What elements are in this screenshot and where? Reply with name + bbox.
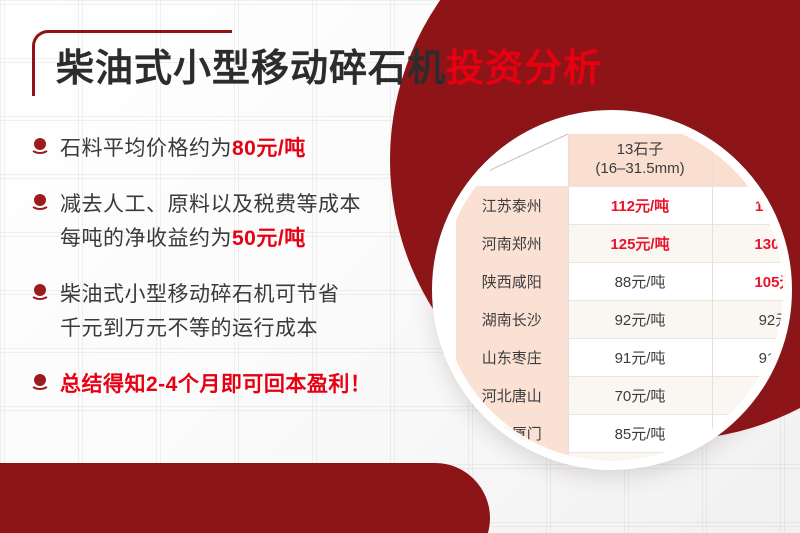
col-header-1-spec: (10–… (761, 150, 786, 167)
price-table-value-cell: 112元/吨 (568, 186, 712, 224)
bullet-arc (30, 286, 50, 300)
bullet-saving: 柴油式小型移动碎石机可节省千元到万元不等的运行成本 (30, 278, 450, 346)
price-table-value-cell: 91元/吨 (568, 338, 712, 376)
price-table-row: —— (456, 452, 786, 464)
price-table-city-cell: 河北唐山 (456, 376, 568, 414)
price-table-city-cell (456, 452, 568, 464)
bullet-conclusion-line-0-plain: 总结得知2-4个月即可回本盈利！ (60, 373, 371, 396)
price-table-value-cell: 91元/吨 (712, 338, 786, 376)
price-table-city-cell: 福建厦门 (456, 414, 568, 452)
bullet-net-profit-text: 减去人工、原料以及税费等成本每吨的净收益约为50元/吨 (60, 188, 361, 256)
poster-root: 柴油式小型移动碎石机投资分析 石料平均价格约为80元/吨减去人工、原料以及税费等… (0, 0, 800, 533)
bullet-list: 石料平均价格约为80元/吨减去人工、原料以及税费等成本每吨的净收益约为50元/吨… (30, 132, 450, 424)
price-table-city-cell: 湖南长沙 (456, 300, 568, 338)
price-table-value-cell: —— (568, 452, 712, 464)
bullet-arc (30, 376, 50, 390)
price-table-value-cell: 92元/吨 (568, 300, 712, 338)
bullet-dot-icon (30, 372, 52, 396)
price-table-value-cell: 125元/吨 (568, 224, 712, 262)
bullet-saving-line-1-plain: 千元到万元不等的运行成本 (60, 317, 318, 340)
price-table-value-cell: 92元/吨 (712, 300, 786, 338)
price-table-city-cell: 江苏泰州 (456, 186, 568, 224)
bullet-dot-icon (30, 136, 52, 160)
bullet-net-profit-line-1-plain: 每吨的净收益约为 (60, 227, 232, 250)
bullet-arc (30, 196, 50, 210)
page-title-accent: 投资分析 (446, 48, 602, 90)
price-table-city-cell: 河南郑州 (456, 224, 568, 262)
col-header-0-name: 13石子 (617, 141, 664, 158)
price-table-value-cell: 85元/吨 (712, 414, 786, 452)
price-table-header-row: 13石子 (16–31.5mm) (10–… (456, 134, 786, 186)
bullet-net-profit-line-0: 减去人工、原料以及税费等成本 (60, 188, 361, 222)
bullet-net-profit-line-1: 每吨的净收益约为50元/吨 (60, 222, 361, 256)
bullet-net-profit: 减去人工、原料以及税费等成本每吨的净收益约为50元/吨 (30, 188, 450, 256)
bullet-net-profit-line-0-plain: 减去人工、原料以及税费等成本 (60, 193, 361, 216)
page-title-block: 柴油式小型移动碎石机投资分析 (32, 30, 602, 92)
price-table-row: 江苏泰州112元/吨113元/吨 (456, 186, 786, 224)
bullet-conclusion-line-0: 总结得知2-4个月即可回本盈利！ (60, 368, 371, 402)
bullet-conclusion: 总结得知2-4个月即可回本盈利！ (30, 368, 450, 402)
bullet-saving-line-1: 千元到万元不等的运行成本 (60, 312, 340, 346)
price-table-value-cell: 85元/吨 (568, 414, 712, 452)
bullet-dot-icon (30, 192, 52, 216)
bullet-price-line-0-highlight: 80元/吨 (232, 137, 306, 160)
bullet-price-line-0: 石料平均价格约为80元/吨 (60, 132, 306, 166)
price-table-row: 陕西咸阳88元/吨105元/吨 (456, 262, 786, 300)
bullet-arc (30, 140, 50, 154)
col-header-0-spec: (16–31.5mm) (595, 160, 684, 177)
price-table-city-cell: 山东枣庄 (456, 338, 568, 376)
price-table-callout: 13石子 (16–31.5mm) (10–… 江苏泰州112元/吨113元/吨河… (432, 110, 792, 470)
bullet-price-line-0-plain: 石料平均价格约为 (60, 137, 232, 160)
price-table-value-cell: 70元/吨 (712, 376, 786, 414)
price-table-body: 江苏泰州112元/吨113元/吨河南郑州125元/吨130元/吨陕西咸阳88元/… (456, 186, 786, 464)
page-title-main: 柴油式小型移动碎石机 (56, 48, 446, 90)
price-table-col-header-1: (10–… (712, 134, 786, 186)
price-table-value-cell: 113元/吨 (712, 186, 786, 224)
price-table-row: 湖南长沙92元/吨92元/吨 (456, 300, 786, 338)
price-table-row: 河南郑州125元/吨130元/吨 (456, 224, 786, 262)
bullet-conclusion-text: 总结得知2-4个月即可回本盈利！ (60, 368, 371, 402)
bullet-saving-line-0: 柴油式小型移动碎石机可节省 (60, 278, 340, 312)
bullet-price-text: 石料平均价格约为80元/吨 (60, 132, 306, 166)
price-table-value-cell (712, 452, 786, 464)
bullet-saving-text: 柴油式小型移动碎石机可节省千元到万元不等的运行成本 (60, 278, 340, 346)
price-table-row: 河北唐山70元/吨70元/吨 (456, 376, 786, 414)
bullet-net-profit-line-1-highlight: 50元/吨 (232, 227, 306, 250)
price-table-col-header-0: 13石子 (16–31.5mm) (568, 134, 712, 186)
price-table-row: 福建厦门85元/吨85元/吨 (456, 414, 786, 452)
bullet-price: 石料平均价格约为80元/吨 (30, 132, 450, 166)
price-table-value-cell: 70元/吨 (568, 376, 712, 414)
price-table-row: 山东枣庄91元/吨91元/吨 (456, 338, 786, 376)
price-table-corner-cell (456, 134, 568, 186)
bullet-dot-icon (30, 282, 52, 306)
price-table-value-cell: 105元/吨 (712, 262, 786, 300)
price-table: 13石子 (16–31.5mm) (10–… 江苏泰州112元/吨113元/吨河… (456, 134, 786, 464)
price-table-value-cell: 130元/吨 (712, 224, 786, 262)
page-title: 柴油式小型移动碎石机投资分析 (56, 48, 602, 92)
bullet-saving-line-0-plain: 柴油式小型移动碎石机可节省 (60, 283, 340, 306)
price-table-value-cell: 88元/吨 (568, 262, 712, 300)
decorative-bottom-banner (0, 463, 490, 533)
price-table-clip: 13石子 (16–31.5mm) (10–… 江苏泰州112元/吨113元/吨河… (438, 116, 786, 464)
price-table-city-cell: 陕西咸阳 (456, 262, 568, 300)
price-table-head: 13石子 (16–31.5mm) (10–… (456, 134, 786, 186)
